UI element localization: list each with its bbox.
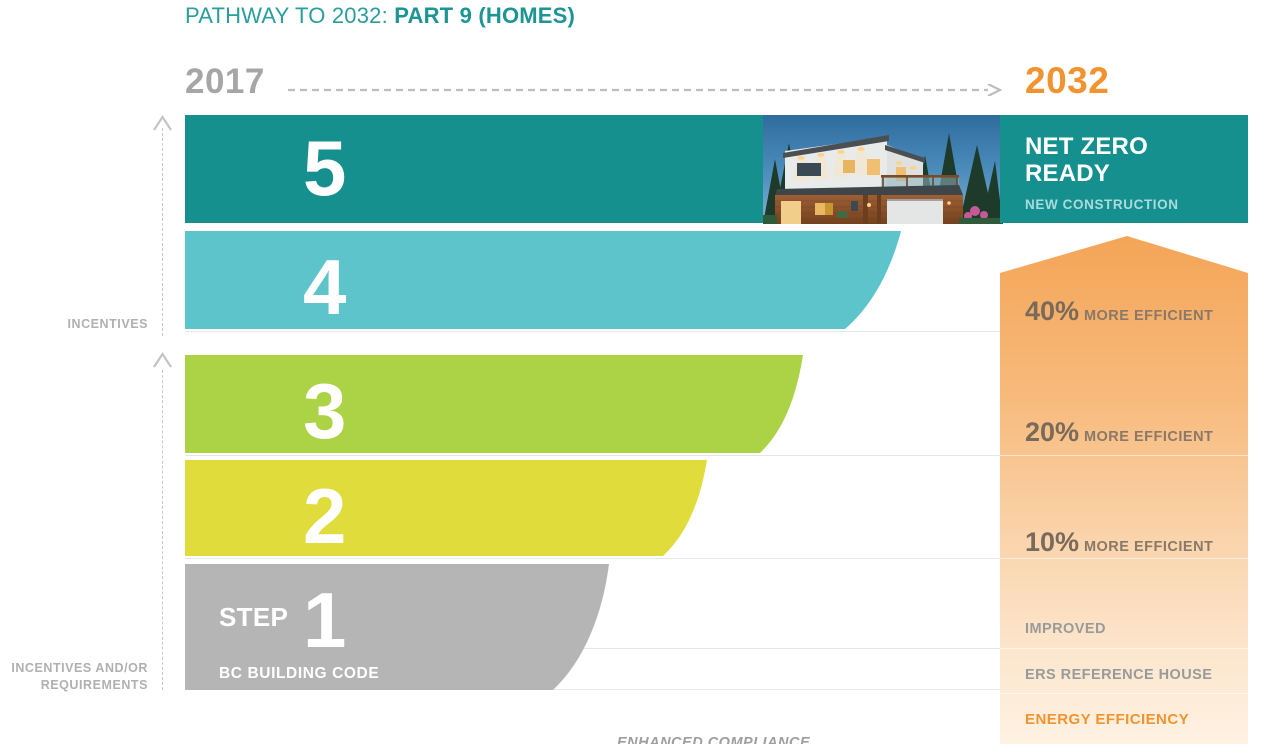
axis-dashed-line-upper [162, 128, 163, 336]
efficiency-divider [1000, 693, 1248, 694]
energy-efficiency-axis-title: ENERGY EFFICIENCY [1025, 711, 1189, 728]
bar-step-5-number: 5 [303, 129, 345, 207]
efficiency-percent: 10% [1025, 527, 1079, 557]
efficiency-text: MORE EFFICIENT [1084, 308, 1213, 324]
bar-step-4-number: 4 [303, 248, 345, 326]
axis-label-incentives: INCENTIVES [67, 316, 148, 333]
axis-label-requirements-line1: INCENTIVES AND/OR [11, 661, 148, 675]
efficiency-percent: 40% [1025, 296, 1079, 326]
bar-step-1-subtitle: BC BUILDING CODE [219, 665, 379, 683]
infographic-root: PATHWAY TO 2032: PART 9 (HOMES) 2017 203… [0, 0, 1274, 744]
net-zero-title-line1: NET ZERO [1025, 133, 1148, 160]
efficiency-label-10: 10% MORE EFFICIENT [1025, 527, 1213, 558]
efficiency-percent: 20% [1025, 417, 1079, 447]
efficiency-text: MORE EFFICIENT [1084, 429, 1213, 445]
page-title: PATHWAY TO 2032: PART 9 (HOMES) [185, 3, 575, 29]
timeline-year-end: 2032 [1025, 60, 1109, 102]
bar-step-3-number: 3 [303, 372, 345, 450]
efficiency-label-20: 20% MORE EFFICIENT [1025, 417, 1213, 448]
house-photo [763, 115, 1003, 224]
efficiency-text: MORE EFFICIENT [1084, 539, 1213, 555]
annotation-enhanced-compliance: ENHANCED COMPLIANCE [617, 735, 810, 744]
net-zero-subtitle: NEW CONSTRUCTION [1025, 197, 1179, 212]
bar-step-1-word: STEP [219, 602, 288, 633]
up-arrow-icon [153, 352, 172, 368]
bar-step-1-number: 1 [303, 581, 345, 659]
efficiency-divider [1000, 558, 1248, 559]
page-title-bold: PART 9 (HOMES) [394, 3, 575, 28]
timeline-year-start: 2017 [185, 62, 265, 102]
net-zero-title: NET ZERO READY [1025, 133, 1148, 187]
net-zero-title-line2: READY [1025, 160, 1110, 187]
efficiency-label-40: 40% MORE EFFICIENT [1025, 296, 1213, 327]
axis-label-requirements: INCENTIVES AND/OR REQUIREMENTS [11, 660, 148, 694]
bar-step-2-number: 2 [303, 477, 345, 555]
axis-dashed-line-lower [162, 370, 163, 690]
axis-label-requirements-line2: REQUIREMENTS [41, 678, 148, 692]
dashed-right-arrow-icon [288, 84, 1004, 96]
efficiency-label-reference: ERS REFERENCE HOUSE [1025, 667, 1212, 683]
efficiency-divider [1000, 648, 1248, 649]
page-title-lead: PATHWAY TO 2032: [185, 3, 394, 28]
up-arrow-icon [153, 115, 172, 131]
efficiency-divider [1000, 455, 1248, 456]
efficiency-label-improved: IMPROVED [1025, 621, 1106, 637]
